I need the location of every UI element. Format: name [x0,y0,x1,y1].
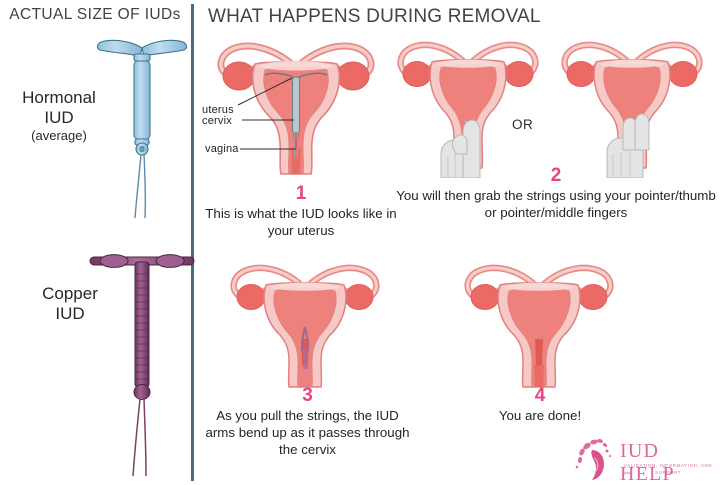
hormonal-iud-label: Hormonal IUD (average) [14,88,104,143]
copper-iud-label: Copper IUD [28,284,112,324]
hormonal-iud-label-line1: Hormonal [14,88,104,108]
hormonal-iud-illustration [95,26,189,221]
step-4: 4 You are done! [440,386,640,425]
step-2: 2 You will then grab the strings using y… [396,166,716,222]
step-1: 1 This is what the IUD looks like in you… [196,184,406,240]
copper-iud-label-line1: Copper [28,284,112,304]
hormonal-iud-label-line2: IUD [14,108,104,128]
uterus-diagram-step3 [218,253,393,391]
copper-iud-label-line2: IUD [28,304,112,324]
step-2-caption: You will then grab the strings using you… [396,188,716,222]
anatomy-label-vagina: vagina [205,143,239,155]
anatomy-label-cervix: cervix [202,115,232,127]
logo-tagline: VALIDATION, INFORMATION, AND SUPPORT [620,463,716,477]
uterus-diagram-step4 [452,253,627,391]
iud-help-logo[interactable]: IUD HELP VALIDATION, INFORMATION, AND SU… [574,436,716,482]
step-3-caption: As you pull the strings, the IUD arms be… [200,408,415,459]
step-2-number: 2 [396,166,716,185]
step-3-number: 3 [200,386,415,405]
right-panel-title: WHAT HAPPENS DURING REMOVAL [208,6,541,28]
or-label: OR [512,117,533,132]
step-1-caption: This is what the IUD looks like in your … [196,206,406,240]
step-4-number: 4 [440,386,640,405]
logo-flower-mark [574,436,620,482]
step-3: 3 As you pull the strings, the IUD arms … [200,386,415,459]
copper-iud-illustration [80,248,204,478]
left-panel-title: ACTUAL SIZE OF IUDs [0,6,190,24]
uterus-diagram-step2-pointer-thumb [393,28,543,178]
step-4-caption: You are done! [440,408,640,425]
uterus-diagram-step2-pointer-middle [556,28,708,178]
iud-removal-infographic: ACTUAL SIZE OF IUDs Hormonal IUD (averag… [0,0,720,485]
step-1-number: 1 [196,184,406,203]
hormonal-iud-label-sub: (average) [14,128,104,143]
